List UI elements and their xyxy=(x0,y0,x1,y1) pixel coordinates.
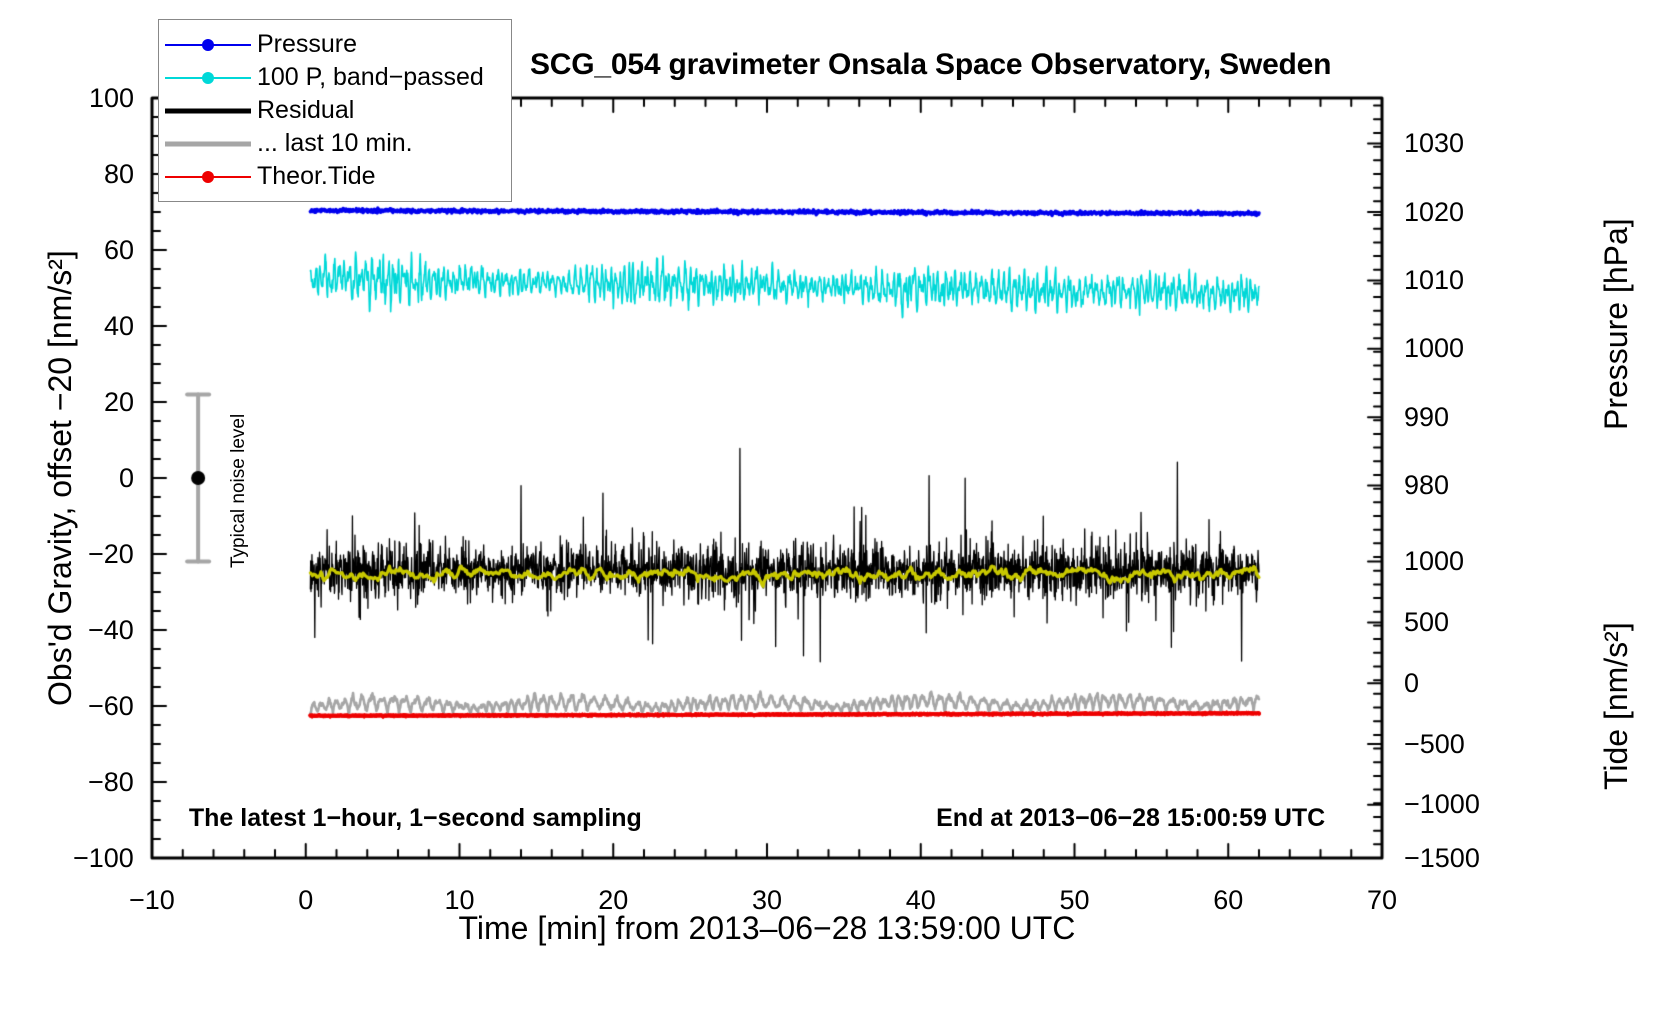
y-axis-title-tide: Tide [nm/s²] xyxy=(1598,622,1635,790)
tide-tick-label-2: 0 xyxy=(1404,668,1419,699)
y-axis-title: Obs'd Gravity, offset −20 [nm/s²] xyxy=(42,250,79,706)
legend-item-4[interactable]: Theor.Tide xyxy=(159,160,511,193)
y-tick-label-4: 20 xyxy=(104,387,134,418)
legend-swatch-2 xyxy=(159,94,257,127)
y-tick-label-9: −80 xyxy=(88,767,134,798)
x-tick-label-1: 0 xyxy=(298,885,313,916)
y-tick-label-3: 40 xyxy=(104,311,134,342)
y-tick-label-0: 100 xyxy=(89,83,134,114)
noise-level-label: Typical noise level xyxy=(228,414,250,568)
legend-swatch-4 xyxy=(159,160,257,193)
y-tick-label-2: 60 xyxy=(104,235,134,266)
pressure-tick-label-4: 990 xyxy=(1404,402,1449,433)
pressure-tick-label-3: 1000 xyxy=(1404,333,1464,364)
pressure-tick-label-1: 1020 xyxy=(1404,197,1464,228)
page-title: SCG_054 gravimeter Onsala Space Observat… xyxy=(530,48,1331,82)
pressure-tick-label-5: 980 xyxy=(1404,470,1449,501)
y-tick-label-8: −60 xyxy=(88,691,134,722)
legend-item-3[interactable]: ... last 10 min. xyxy=(159,127,511,160)
y-tick-label-10: −100 xyxy=(73,843,134,874)
tide-tick-label-1: 500 xyxy=(1404,607,1449,638)
tide-tick-label-4: −1000 xyxy=(1404,789,1480,820)
tide-tick-label-3: −500 xyxy=(1404,729,1465,760)
x-axis-title: Time [min] from 2013‒06−28 13:59:00 UTC xyxy=(459,910,1076,947)
x-tick-label-2: 10 xyxy=(445,885,475,916)
y-tick-label-7: −40 xyxy=(88,615,134,646)
end-time-note: End at 2013−06−28 15:00:59 UTC xyxy=(936,804,1325,833)
x-tick-label-4: 30 xyxy=(752,885,782,916)
y-tick-label-6: −20 xyxy=(88,539,134,570)
pressure-tick-label-0: 1030 xyxy=(1404,128,1464,159)
x-tick-label-0: −10 xyxy=(129,885,175,916)
y-tick-label-5: 0 xyxy=(119,463,134,494)
legend-item-2[interactable]: Residual xyxy=(159,94,511,127)
legend-line-icon xyxy=(165,108,251,113)
sampling-note: The latest 1−hour, 1−second sampling xyxy=(189,804,642,833)
x-tick-label-5: 40 xyxy=(906,885,936,916)
y-axis-title-pressure: Pressure [hPa] xyxy=(1598,218,1635,430)
x-tick-label-8: 70 xyxy=(1367,885,1397,916)
legend-swatch-1 xyxy=(159,61,257,94)
chart-figure: SCG_054 gravimeter Onsala Space Observat… xyxy=(0,0,1660,1020)
x-tick-label-6: 50 xyxy=(1060,885,1090,916)
legend-label-0: Pressure xyxy=(257,30,357,59)
legend-swatch-0 xyxy=(159,28,257,61)
legend-marker-dot-icon xyxy=(202,171,214,183)
x-tick-label-7: 60 xyxy=(1213,885,1243,916)
legend-marker-dot-icon xyxy=(202,39,214,51)
legend: Pressure100 P, band−passedResidual... la… xyxy=(158,19,512,202)
pressure-tick-label-2: 1010 xyxy=(1404,265,1464,296)
legend-label-2: Residual xyxy=(257,96,354,125)
legend-item-0[interactable]: Pressure xyxy=(159,28,511,61)
legend-label-4: Theor.Tide xyxy=(257,162,376,191)
tide-tick-label-0: 1000 xyxy=(1404,546,1464,577)
legend-marker-dot-icon xyxy=(202,72,214,84)
legend-label-3: ... last 10 min. xyxy=(257,129,413,158)
legend-swatch-3 xyxy=(159,127,257,160)
y-tick-label-1: 80 xyxy=(104,159,134,190)
x-tick-label-3: 20 xyxy=(598,885,628,916)
legend-item-1[interactable]: 100 P, band−passed xyxy=(159,61,511,94)
tide-tick-label-5: −1500 xyxy=(1404,843,1480,874)
legend-line-icon xyxy=(165,141,251,146)
legend-label-1: 100 P, band−passed xyxy=(257,63,484,92)
